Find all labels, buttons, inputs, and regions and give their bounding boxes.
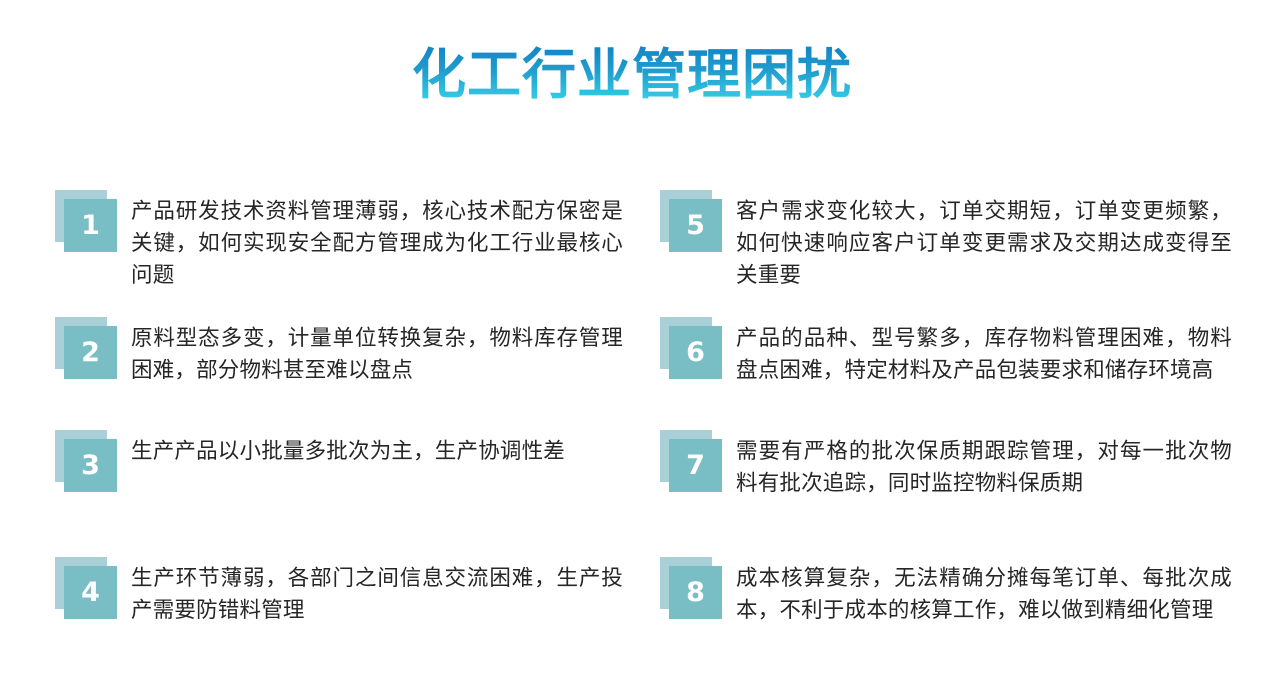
badge-number: 5 (669, 199, 722, 252)
list-item-text: 生产产品以小批量多批次为主，生产协调性差 (131, 436, 623, 468)
number-badge: 7 (660, 430, 722, 492)
number-badge: 8 (660, 557, 722, 619)
list-item-text: 生产环节薄弱，各部门之间信息交流困难，生产投产需要防错料管理 (131, 563, 623, 627)
number-badge: 5 (660, 190, 722, 252)
badge-number: 2 (64, 326, 117, 379)
list-item-text: 产品研发技术资料管理薄弱，核心技术配方保密是关键，如何实现安全配方管理成为化工行… (131, 196, 623, 292)
number-badge: 3 (55, 430, 117, 492)
number-badge: 1 (55, 190, 117, 252)
list-item-text: 产品的品种、型号繁多，库存物料管理困难，物料盘点困难，特定材料及产品包装要求和储… (736, 323, 1232, 387)
list-item-text: 需要有严格的批次保质期跟踪管理，对每一批次物料有批次追踪，同时监控物料保质期 (736, 436, 1232, 500)
badge-number: 4 (64, 566, 117, 619)
badge-number: 7 (669, 439, 722, 492)
content-columns: 1 产品研发技术资料管理薄弱，核心技术配方保密是关键，如何实现安全配方管理成为化… (0, 0, 1264, 687)
list-item-text: 原料型态多变，计量单位转换复杂，物料库存管理困难，部分物料甚至难以盘点 (131, 323, 623, 387)
number-badge: 2 (55, 317, 117, 379)
number-badge: 6 (660, 317, 722, 379)
left-column: 1 产品研发技术资料管理薄弱，核心技术配方保密是关键，如何实现安全配方管理成为化… (55, 0, 625, 687)
list-item-text: 客户需求变化较大，订单交期短，订单变更频繁，如何快速响应客户订单变更需求及交期达… (736, 196, 1232, 292)
badge-number: 3 (64, 439, 117, 492)
number-badge: 4 (55, 557, 117, 619)
badge-number: 6 (669, 326, 722, 379)
badge-number: 1 (64, 199, 117, 252)
right-column: 5 客户需求变化较大，订单交期短，订单变更频繁，如何快速响应客户订单变更需求及交… (660, 0, 1230, 687)
badge-number: 8 (669, 566, 722, 619)
list-item-text: 成本核算复杂，无法精确分摊每笔订单、每批次成本，不利于成本的核算工作，难以做到精… (736, 563, 1232, 627)
